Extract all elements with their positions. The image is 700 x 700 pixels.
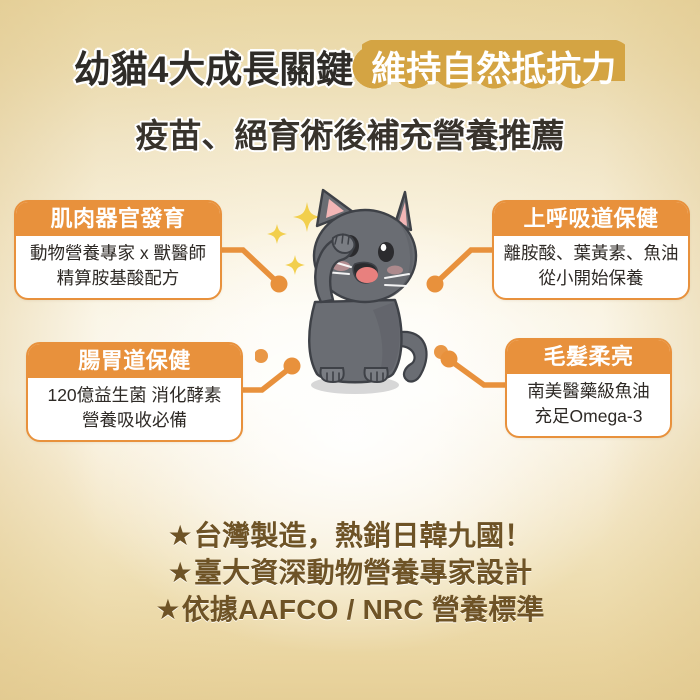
sparkle-icon — [293, 202, 321, 232]
poster-canvas: 幼貓4大成長關鍵 維持自然抵抗力 疫苗、絕育術後補充營養推薦 — [0, 0, 700, 700]
star-icon: ★ — [168, 557, 193, 588]
bullet-text: 台灣製造，熱銷日韓九國！ — [194, 520, 532, 551]
callout-muscle-development[interactable]: 肌肉器官發育 動物營養專家 x 獸醫師 精算胺基酸配方 — [14, 200, 222, 300]
callout-header: 毛髮柔亮 — [507, 340, 670, 374]
headline-highlight-text: 維持自然抵抗力 — [361, 50, 626, 89]
deco-dot-left — [255, 349, 268, 363]
bullet-text: 依據AAFCO / NRC 營養標準 — [182, 594, 545, 625]
bullet-text: 臺大資深動物營養專家設計 — [194, 557, 532, 588]
cat-paw-left — [321, 368, 344, 382]
callout-line: 從小開始保養 — [498, 266, 684, 291]
cat-paw-right — [365, 368, 388, 382]
callout-body: 離胺酸、葉黃素、魚油 從小開始保養 — [494, 236, 688, 298]
sparkle-icon — [285, 255, 305, 275]
callout-coat-shine[interactable]: 毛髮柔亮 南美醫藥級魚油 充足Omega-3 — [505, 338, 672, 438]
callout-line: 離胺酸、葉黃素、魚油 — [498, 241, 684, 266]
deco-dot-right — [434, 345, 448, 359]
bullet-item: ★臺大資深動物營養專家設計 — [168, 555, 533, 591]
bullet-item: ★依據AAFCO / NRC 營養標準 — [155, 592, 544, 628]
callout-body: 南美醫藥級魚油 充足Omega-3 — [507, 374, 670, 436]
callout-respiratory-health[interactable]: 上呼吸道保健 離胺酸、葉黃素、魚油 從小開始保養 — [492, 200, 690, 300]
cat-illustration — [255, 182, 455, 397]
callout-line: 南美醫藥級魚油 — [511, 379, 666, 404]
bullet-item: ★台灣製造，熱銷日韓九國！ — [168, 518, 533, 554]
star-icon: ★ — [155, 594, 180, 625]
sparkle-icon — [267, 224, 287, 244]
headline-main-text: 幼貓4大成長關鍵 — [74, 39, 362, 93]
callout-line: 精算胺基酸配方 — [20, 266, 216, 291]
cat-tail — [399, 332, 427, 382]
callout-header: 腸胃道保健 — [28, 344, 241, 378]
callout-line: 120億益生菌 消化酵素 — [32, 383, 237, 408]
sparkle-group — [267, 202, 321, 275]
callout-line: 營養吸收必備 — [32, 408, 237, 433]
callout-header: 上呼吸道保健 — [494, 202, 688, 236]
callout-body: 動物營養專家 x 獸醫師 精算胺基酸配方 — [16, 236, 220, 298]
cat-eye-right — [378, 242, 394, 262]
callout-line: 動物營養專家 x 獸醫師 — [20, 241, 216, 266]
headline-row: 幼貓4大成長關鍵 維持自然抵抗力 — [0, 38, 700, 94]
cat-raised-paw — [333, 235, 355, 253]
subtitle-text: 疫苗、絕育術後補充營養推薦 — [136, 109, 565, 157]
callout-line: 充足Omega-3 — [511, 404, 666, 429]
cat-tongue — [356, 267, 378, 283]
callout-header: 肌肉器官發育 — [16, 202, 220, 236]
callout-gut-health[interactable]: 腸胃道保健 120億益生菌 消化酵素 營養吸收必備 — [26, 342, 243, 442]
bullet-list: ★台灣製造，熱銷日韓九國！ ★臺大資深動物營養專家設計 ★依據AAFCO / N… — [0, 518, 700, 628]
subtitle-row: 疫苗、絕育術後補充營養推薦 — [0, 108, 700, 158]
callout-body: 120億益生菌 消化酵素 營養吸收必備 — [28, 378, 241, 440]
connector-coat — [451, 361, 505, 385]
cat-eye-right-highlight — [381, 244, 387, 251]
cat-blush-right — [387, 266, 403, 275]
star-icon: ★ — [168, 520, 193, 551]
headline-highlight-pill: 維持自然抵抗力 — [361, 41, 626, 92]
